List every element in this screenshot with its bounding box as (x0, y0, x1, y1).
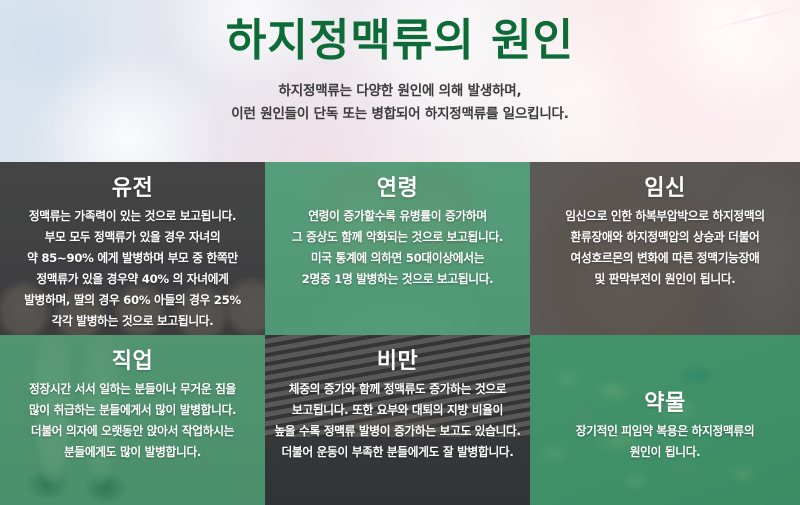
card-text-line: 많이 취급하는 분들에게서 많이 발병합니다. (8, 400, 257, 421)
card-title-medication: 약물 (538, 391, 792, 417)
card-text-pregnancy: 임신으로 인한 하복부압박으로 하지정맥의 환류장애와 하지정맥압의 상승과 더… (538, 206, 792, 289)
card-text-line: 장기적인 피임약 복용은 하지정맥류의 (538, 421, 792, 442)
infographic-page: 하지정맥류의 원인 하지정맥류는 다양한 원인에 의해 발생하며, 이런 원인들… (0, 0, 800, 505)
subtitle-line-1: 하지정맥류는 다양한 원인에 의해 발생하며, (0, 80, 800, 103)
card-text-line: 발병하며, 딸의 경우 60% 아들의 경우 25% (8, 290, 257, 311)
card-medication[interactable]: 약물 장기적인 피임약 복용은 하지정맥류의 원인이 됩니다. (530, 335, 800, 505)
card-text-line: 환류장애와 하지정맥압의 상승과 더불어 (538, 227, 792, 248)
card-age[interactable]: 연령 연령이 증가할수록 유병률이 증가하며 그 증상도 함께 악화되는 것으로… (265, 162, 530, 335)
page-header: 하지정맥류의 원인 하지정맥류는 다양한 원인에 의해 발생하며, 이런 원인들… (0, 0, 800, 162)
card-text-line: 더불어 운동이 부족한 분들에게도 잘 발병합니다. (273, 442, 522, 463)
card-title-age: 연령 (273, 176, 522, 202)
card-text-line: 약 85~90% 에게 발병하며 부모 중 한쪽만 (8, 248, 257, 269)
card-obesity[interactable]: 비만 체중의 증가와 함께 정맥류도 증가하는 것으로 보고됩니다. 또한 요부… (265, 335, 530, 505)
card-text-line: 정장시간 서서 일하는 분들이나 무거운 짐을 (8, 379, 257, 400)
card-text-line: 여성호르몬의 변화에 따른 정맥기능장애 (538, 248, 792, 269)
card-text-line: 보고됩니다. 또한 요부와 대퇴의 지방 비율이 (273, 400, 522, 421)
card-occupation[interactable]: 직업 정장시간 서서 일하는 분들이나 무거운 짐을 많이 취급하는 분들에게서… (0, 335, 265, 505)
card-pregnancy[interactable]: 임신 임신으로 인한 하복부압박으로 하지정맥의 환류장애와 하지정맥압의 상승… (530, 162, 800, 335)
card-text-medication: 장기적인 피임약 복용은 하지정맥류의 원인이 됩니다. (538, 421, 792, 463)
card-text-line: 및 판막부전이 원인이 됩니다. (538, 269, 792, 290)
card-text-line: 체중의 증가와 함께 정맥류도 증가하는 것으로 (273, 379, 522, 400)
card-title-obesity: 비만 (273, 349, 522, 375)
card-text-line: 더불어 의자에 오랫동안 앉아서 작업하시는 (8, 421, 257, 442)
card-text-line: 연령이 증가할수록 유병률이 증가하며 (273, 206, 522, 227)
card-text-age: 연령이 증가할수록 유병률이 증가하며 그 증상도 함께 악화되는 것으로 보고… (273, 206, 522, 289)
card-text-line: 임신으로 인한 하복부압박으로 하지정맥의 (538, 206, 792, 227)
card-text-line: 각각 발병하는 것으로 보고됩니다. (8, 311, 257, 332)
card-text-line: 분들에게도 많이 발병합니다. (8, 442, 257, 463)
card-text-line: 정맥류가 있을 경우약 40% 의 자녀에게 (8, 269, 257, 290)
card-title-pregnancy: 임신 (538, 176, 792, 202)
card-text-line: 미국 통계에 의하면 50대이상에서는 (273, 248, 522, 269)
card-text-line: 2명중 1명 발병하는 것으로 보고됩니다. (273, 269, 522, 290)
card-text-line: 높을 수록 정맥류 발병이 증가하는 보고도 있습니다. (273, 421, 522, 442)
card-title-genetics: 유전 (8, 176, 257, 202)
card-genetics[interactable]: 유전 정맥류는 가족력이 있는 것으로 보고됩니다. 부모 모두 정맥류가 있을… (0, 162, 265, 335)
causes-grid: 유전 정맥류는 가족력이 있는 것으로 보고됩니다. 부모 모두 정맥류가 있을… (0, 162, 800, 505)
card-text-line: 원인이 됩니다. (538, 442, 792, 463)
card-text-obesity: 체중의 증가와 함께 정맥류도 증가하는 것으로 보고됩니다. 또한 요부와 대… (273, 379, 522, 462)
subtitle-line-2: 이런 원인들이 단독 또는 병합되어 하지정맥류를 일으킵니다. (0, 103, 800, 126)
card-text-line: 부모 모두 정맥류가 있을 경우 자녀의 (8, 227, 257, 248)
card-text-line: 그 증상도 함께 악화되는 것으로 보고됩니다. (273, 227, 522, 248)
page-subtitle: 하지정맥류는 다양한 원인에 의해 발생하며, 이런 원인들이 단독 또는 병합… (0, 80, 800, 126)
page-title: 하지정맥류의 원인 (0, 16, 800, 67)
card-title-occupation: 직업 (8, 349, 257, 375)
card-text-line: 정맥류는 가족력이 있는 것으로 보고됩니다. (8, 206, 257, 227)
card-text-occupation: 정장시간 서서 일하는 분들이나 무거운 짐을 많이 취급하는 분들에게서 많이… (8, 379, 257, 462)
card-text-genetics: 정맥류는 가족력이 있는 것으로 보고됩니다. 부모 모두 정맥류가 있을 경우… (8, 206, 257, 331)
